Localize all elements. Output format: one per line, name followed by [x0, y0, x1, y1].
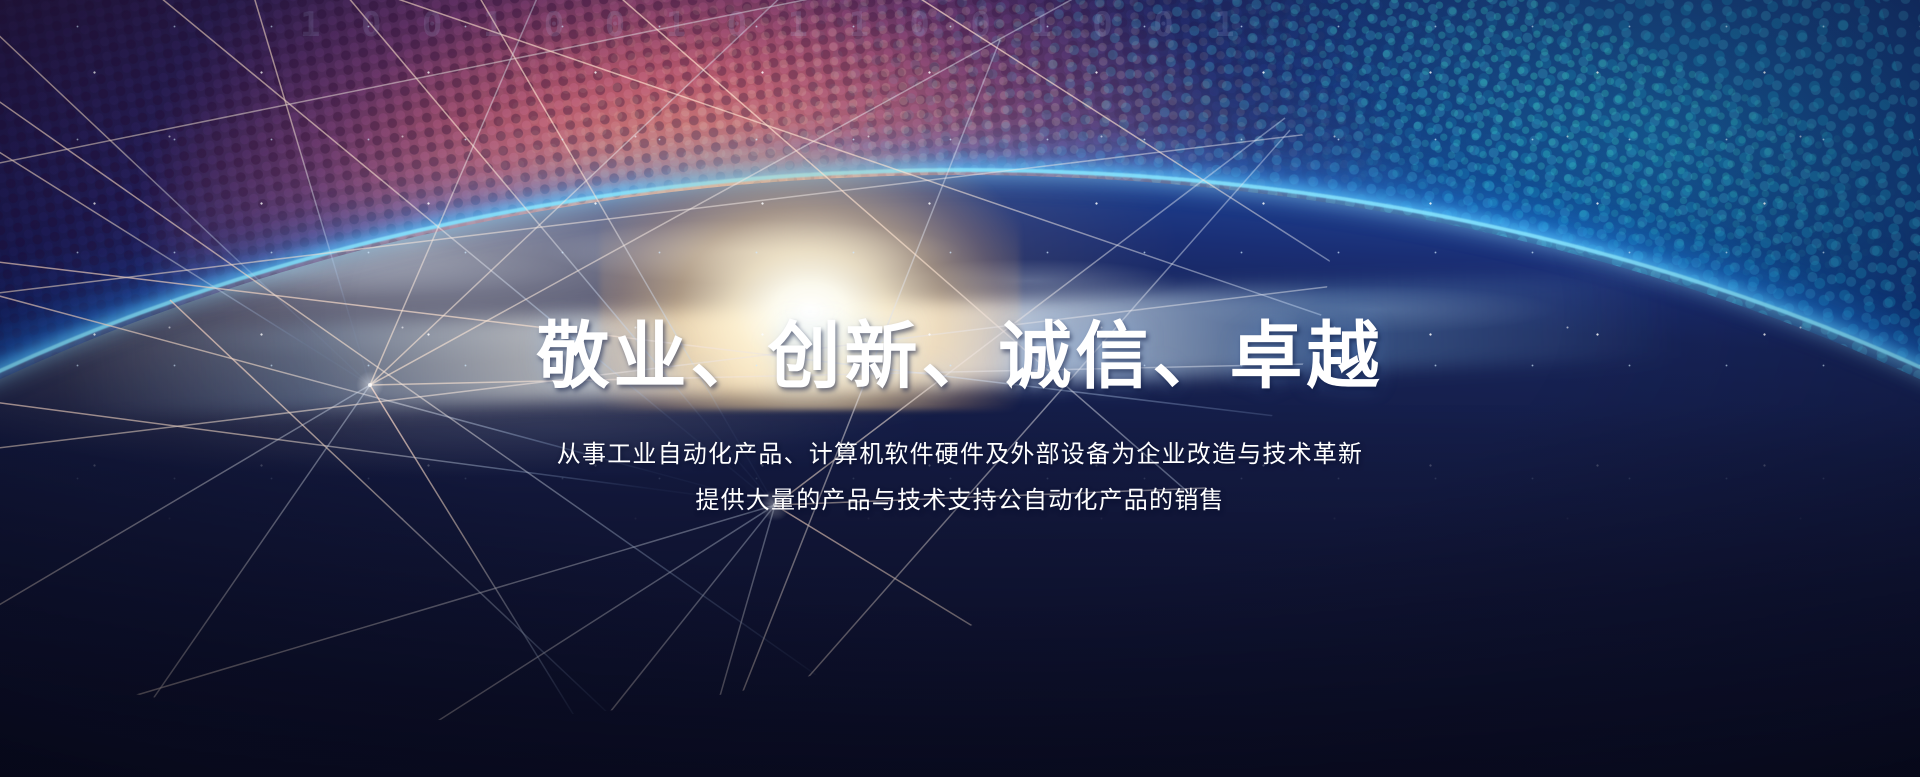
- page-title: 敬业、创新、诚信、卓越: [0, 318, 1920, 397]
- hero-subtitle-line-2: 提供大量的产品与技术支持公自动化产品的销售: [0, 477, 1920, 523]
- hero-subtitle-line-1: 从事工业自动化产品、计算机软件硬件及外部设备为企业改造与技术革新: [0, 431, 1920, 477]
- hero-content: 敬业、创新、诚信、卓越 从事工业自动化产品、计算机软件硬件及外部设备为企业改造与…: [0, 318, 1920, 523]
- hero-banner: 1 0 0 1 0 0 1 0 1 1 0 0 1 0 0 1 敬业、创新、诚信…: [0, 0, 1920, 777]
- hero-subtitle-group: 从事工业自动化产品、计算机软件硬件及外部设备为企业改造与技术革新 提供大量的产品…: [0, 431, 1920, 523]
